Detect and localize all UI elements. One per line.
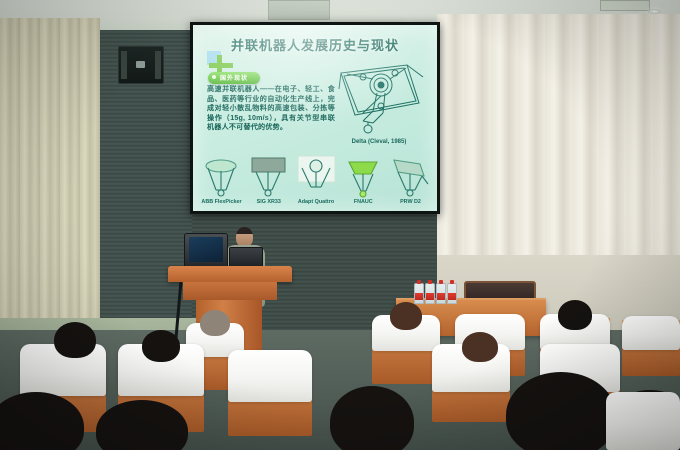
robot-caption: PRW D2	[388, 199, 433, 205]
robot-item: ABB FlexPicker	[199, 154, 244, 205]
robot-item: SIG XR33	[246, 154, 291, 205]
delta-robot-diagram	[333, 59, 429, 141]
robot-item: FNAUC	[341, 154, 386, 205]
fnauc-icon	[341, 154, 386, 198]
right-window-blinds	[437, 14, 680, 260]
monitor-screen	[189, 237, 223, 262]
robot-item: PRW D2	[388, 154, 433, 205]
audience-head-foreground	[330, 386, 414, 450]
water-bottle	[425, 283, 435, 304]
wall-speaker-icon	[118, 46, 164, 84]
water-bottle	[414, 283, 424, 304]
delta-robot-schematic-icon	[333, 59, 429, 141]
podium-crt-monitor	[184, 233, 228, 270]
chair-seat-cover	[228, 350, 312, 402]
robot-caption: Adapt Quattro	[294, 199, 339, 205]
podium-body	[183, 282, 277, 300]
chair-seat-cover	[606, 392, 680, 450]
water-bottle	[447, 283, 457, 304]
podium-top	[168, 266, 292, 282]
audience-head	[54, 322, 96, 358]
ceiling-air-vent-right	[600, 0, 650, 11]
robot-item: Adapt Quattro	[294, 154, 339, 205]
ceiling-air-vent	[268, 0, 330, 20]
presentation-slide: 并联机器人发展历史与现状 国外现状 高速并联机器人——在电子、轻工、食品、医药等…	[193, 25, 437, 211]
audience-head	[200, 310, 230, 336]
projection-screen: 并联机器人发展历史与现状 国外现状 高速并联机器人——在电子、轻工、食品、医药等…	[190, 22, 440, 214]
adapt-quattro-icon	[294, 154, 339, 198]
robot-caption: ABB FlexPicker	[199, 199, 244, 205]
presenter-head	[236, 227, 253, 247]
slide-body-text: 高速并联机器人——在电子、轻工、食品、医药等行业的自动化生产线上，完成对轻小散乱…	[207, 85, 335, 133]
sig-xr33-icon	[246, 154, 291, 198]
chair-seat-cover	[622, 316, 680, 350]
prw-d2-icon	[388, 154, 433, 198]
slide-section-badge: 国外现状	[208, 72, 260, 84]
robot-caption: FNAUC	[341, 199, 386, 205]
lecture-hall-scene: 并联机器人发展历史与现状 国外现状 高速并联机器人——在电子、轻工、食品、医药等…	[0, 0, 680, 450]
robot-caption: SIG XR33	[246, 199, 291, 205]
audience-head	[558, 300, 592, 330]
abb-flexpicker-icon	[199, 154, 244, 198]
robot-thumbnail-row: ABB FlexPicker	[199, 143, 433, 205]
left-window-curtain	[0, 18, 100, 340]
audience-head	[142, 330, 180, 362]
water-bottle	[436, 283, 446, 304]
audience-head	[462, 332, 498, 362]
audience-head-foreground	[506, 372, 616, 450]
slide-title: 并联机器人发展历史与现状	[193, 35, 437, 54]
audience-head	[390, 302, 422, 330]
slide-decoration-plus	[209, 63, 233, 68]
